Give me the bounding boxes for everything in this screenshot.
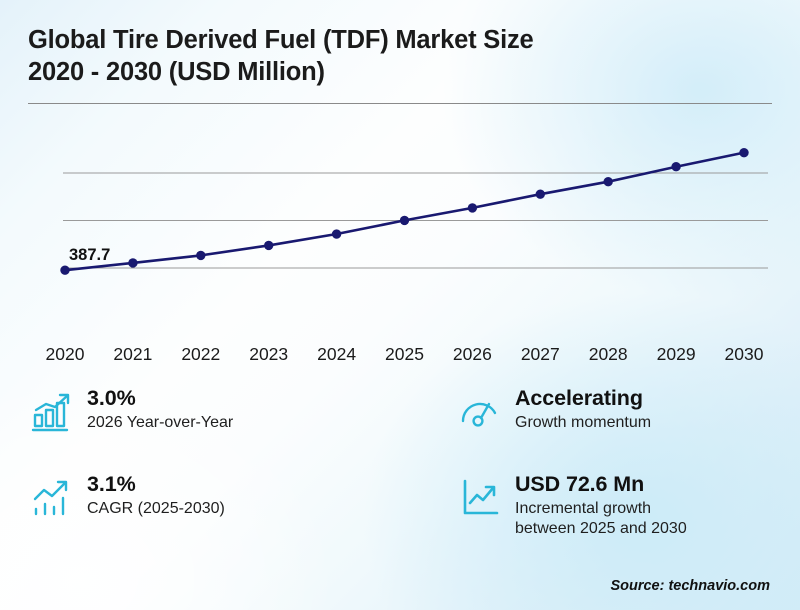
- metric-card-text: AcceleratingGrowth momentum: [515, 386, 651, 433]
- metric-value: 3.0%: [87, 386, 233, 411]
- metric-card-text: 3.0%2026 Year-over-Year: [87, 386, 233, 433]
- data-point-marker: [536, 189, 545, 198]
- metric-card: 3.1%CAGR (2025-2030): [30, 472, 400, 520]
- data-point-marker: [264, 241, 273, 250]
- metric-label: 2026 Year-over-Year: [87, 413, 233, 433]
- x-axis-tick-label: 2027: [521, 344, 560, 365]
- data-point-marker: [400, 216, 409, 225]
- bar-chart-growth-icon: [30, 390, 74, 434]
- data-point-marker: [128, 258, 137, 267]
- x-axis-tick-label: 2020: [46, 344, 85, 365]
- data-point-marker: [332, 229, 341, 238]
- series-line: [65, 153, 744, 271]
- source-attribution: Source: technavio.com: [610, 578, 770, 594]
- x-axis-tick-label: 2024: [317, 344, 356, 365]
- data-point-marker: [60, 265, 69, 274]
- metric-card: USD 72.6 MnIncremental growth between 20…: [458, 472, 788, 539]
- data-point-marker: [671, 162, 680, 171]
- trending-up-bars-icon: [30, 476, 74, 520]
- x-axis-labels: 2020202120222023202420252026202720282029…: [28, 344, 772, 370]
- data-point-marker: [604, 177, 613, 186]
- metric-value: USD 72.6 Mn: [515, 472, 687, 497]
- metric-card-text: 3.1%CAGR (2025-2030): [87, 472, 225, 519]
- data-point-label: 387.7: [69, 246, 110, 264]
- x-axis-tick-label: 2025: [385, 344, 424, 365]
- x-axis-tick-label: 2029: [657, 344, 696, 365]
- chart-header: Global Tire Derived Fuel (TDF) Market Si…: [28, 24, 772, 88]
- x-axis-tick-label: 2021: [113, 344, 152, 365]
- x-axis-tick-label: 2022: [181, 344, 220, 365]
- header-divider: [28, 103, 772, 104]
- line-chart-canvas: 387.7: [28, 112, 772, 340]
- metric-card: 3.0%2026 Year-over-Year: [30, 386, 400, 434]
- axis-arrow-up-icon: [458, 476, 502, 520]
- x-axis-tick-label: 2023: [249, 344, 288, 365]
- x-axis-tick-label: 2028: [589, 344, 628, 365]
- metric-cards-group: 3.0%2026 Year-over-YearAcceleratingGrowt…: [30, 386, 774, 564]
- data-point-marker: [196, 251, 205, 260]
- data-point-marker: [468, 203, 477, 212]
- page-title: Global Tire Derived Fuel (TDF) Market Si…: [28, 24, 772, 88]
- metric-value: Accelerating: [515, 386, 651, 411]
- x-axis-tick-label: 2026: [453, 344, 492, 365]
- speedometer-icon: [458, 390, 502, 434]
- metric-card-text: USD 72.6 MnIncremental growth between 20…: [515, 472, 687, 539]
- metric-label: Incremental growth between 2025 and 2030: [515, 499, 687, 538]
- metric-label: Growth momentum: [515, 413, 651, 433]
- data-point-marker: [739, 148, 748, 157]
- line-chart: 387.7: [28, 112, 772, 340]
- metric-card: AcceleratingGrowth momentum: [458, 386, 788, 434]
- x-axis-tick-label: 2030: [725, 344, 764, 365]
- metric-value: 3.1%: [87, 472, 225, 497]
- metric-label: CAGR (2025-2030): [87, 499, 225, 519]
